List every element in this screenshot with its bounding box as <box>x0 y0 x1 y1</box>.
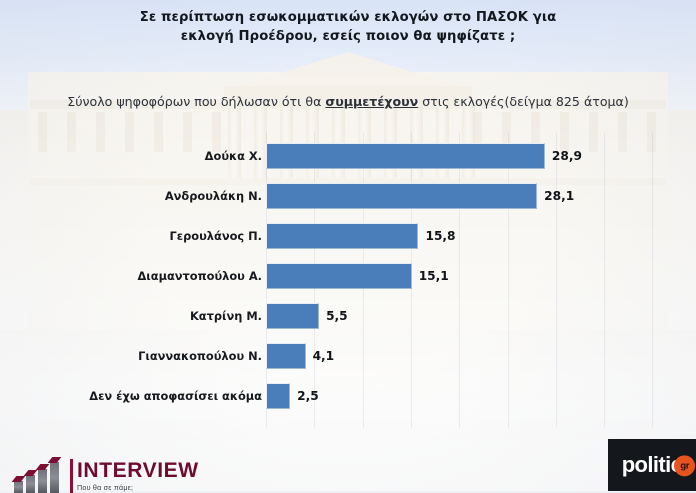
bar <box>266 303 319 329</box>
chart-title-line-2: εκλογή Προέδρου, εσείς ποιον θα ψηφίζατε… <box>0 27 696 46</box>
bar <box>266 143 545 169</box>
chart-row: Δεν έχω αποφασίσει ακόμα2,5 <box>0 376 696 416</box>
bar-value-label: 15,8 <box>425 229 455 243</box>
bar <box>266 263 412 289</box>
chart-subtitle: Σύνολο ψηφοφόρων που δήλωσαν ότι θα συμμ… <box>0 92 696 111</box>
bar-value-label: 28,9 <box>552 149 582 163</box>
bar <box>266 223 418 249</box>
interview-logo-name: INTERVIEW <box>77 460 199 481</box>
category-label: Δούκα Χ. <box>205 149 262 163</box>
category-label: Γερουλάνος Π. <box>170 229 262 243</box>
chart-row: Δούκα Χ.28,9 <box>0 136 696 176</box>
bar-chart: Δούκα Χ.28,9Ανδρουλάκη Ν.28,1Γερουλάνος … <box>0 136 696 416</box>
subtitle-part-1: Σύνολο ψηφοφόρων που δήλωσαν ότι θα <box>67 94 325 109</box>
category-label: Κατρίνη Μ. <box>190 309 262 323</box>
politic-logo-name: politic <box>622 452 683 478</box>
chart-row: Ανδρουλάκη Ν.28,1 <box>0 176 696 216</box>
chart-row: Κατρίνη Μ.5,5 <box>0 296 696 336</box>
bar-chart-icon <box>14 457 70 493</box>
bar-value-label: 2,5 <box>297 389 319 403</box>
bar-value-label: 5,5 <box>326 309 348 323</box>
subtitle-emphasis: συμμετέχουν <box>325 94 418 109</box>
chart-title-line-1: Σε περίπτωση εσωκομματικών εκλογών στο Π… <box>0 8 696 27</box>
bar-value-label: 28,1 <box>544 189 574 203</box>
subtitle-part-2: στις εκλογές(δείγμα 825 άτομα) <box>418 94 629 109</box>
politic-logo: politic gr <box>608 439 696 491</box>
category-label: Διαμαντοπούλου Α. <box>137 269 262 283</box>
category-label: Δεν έχω αποφασίσει ακόμα <box>89 389 262 403</box>
category-label: Ανδρουλάκη Ν. <box>165 189 262 203</box>
bar-value-label: 4,1 <box>313 349 335 363</box>
chart-row: Γιαννακοπούλου Ν.4,1 <box>0 336 696 376</box>
bar <box>266 343 306 369</box>
bar <box>266 383 290 409</box>
category-label: Γιαννακοπούλου Ν. <box>138 349 262 363</box>
interview-logo-tagline: Που θα σε πάμε; <box>77 484 199 491</box>
politic-gr-badge: gr <box>674 455 695 476</box>
logo-divider <box>70 459 73 493</box>
bar <box>266 183 537 209</box>
chart-row: Γερουλάνος Π.15,8 <box>0 216 696 256</box>
chart-title: Σε περίπτωση εσωκομματικών εκλογών στο Π… <box>0 8 696 46</box>
bar-value-label: 15,1 <box>419 269 449 283</box>
interview-logo: INTERVIEW Που θα σε πάμε; <box>14 445 199 493</box>
chart-row: Διαμαντοπούλου Α.15,1 <box>0 256 696 296</box>
